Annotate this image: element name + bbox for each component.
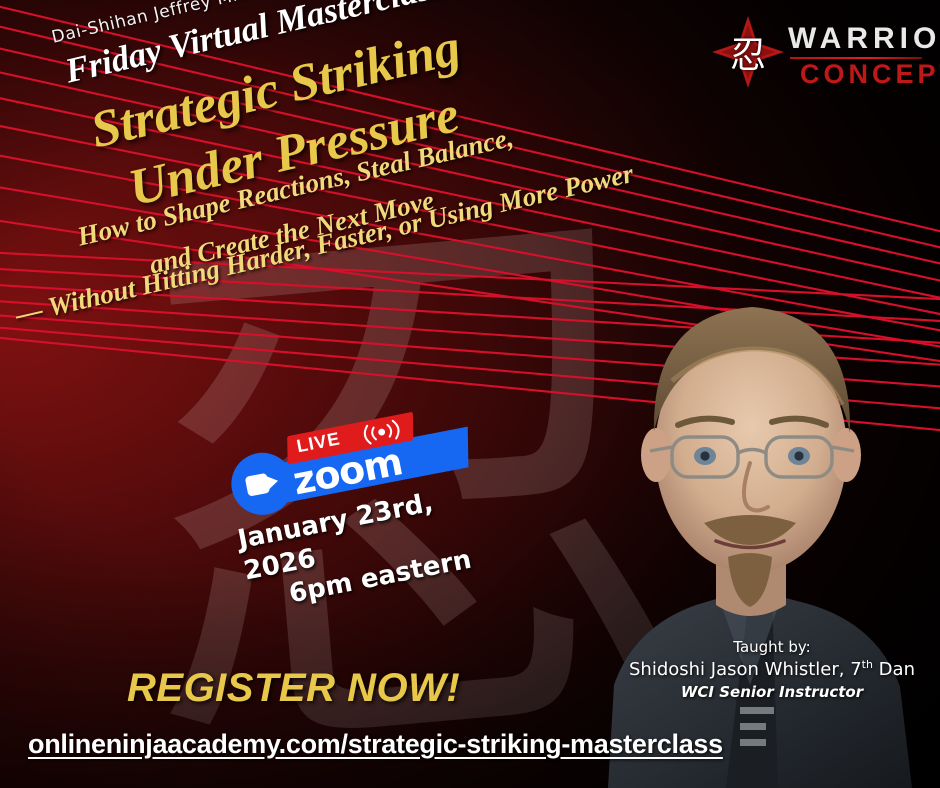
instructor-credit: Taught by: Shidoshi Jason Whistler, 7th …	[622, 638, 922, 701]
rank-tail: Dan	[873, 659, 915, 680]
instructor-portrait	[600, 255, 940, 788]
registration-url-link[interactable]: onlineninjaacademy.com/strategic-strikin…	[28, 729, 723, 760]
logo-kanji: 忍	[712, 16, 784, 88]
instructor-name: Shidoshi Jason Whistler, 7th Dan	[622, 658, 922, 680]
instructor-name-text: Shidoshi Jason Whistler, 7	[629, 659, 862, 680]
promo-poster: 忍	[0, 0, 940, 788]
instructor-title: WCI Senior Instructor	[622, 683, 922, 701]
warrior-concepts-logo: 忍 WARRIOR CONCEPTS	[712, 12, 924, 90]
register-now-label: REGISTER NOW!	[127, 666, 460, 711]
rank-ordinal-suffix: th	[862, 658, 873, 671]
logo-warrior-text: WARRIOR	[788, 22, 940, 56]
taught-by-label: Taught by:	[622, 638, 922, 656]
logo-concepts-text: CONCEPTS	[800, 59, 940, 90]
